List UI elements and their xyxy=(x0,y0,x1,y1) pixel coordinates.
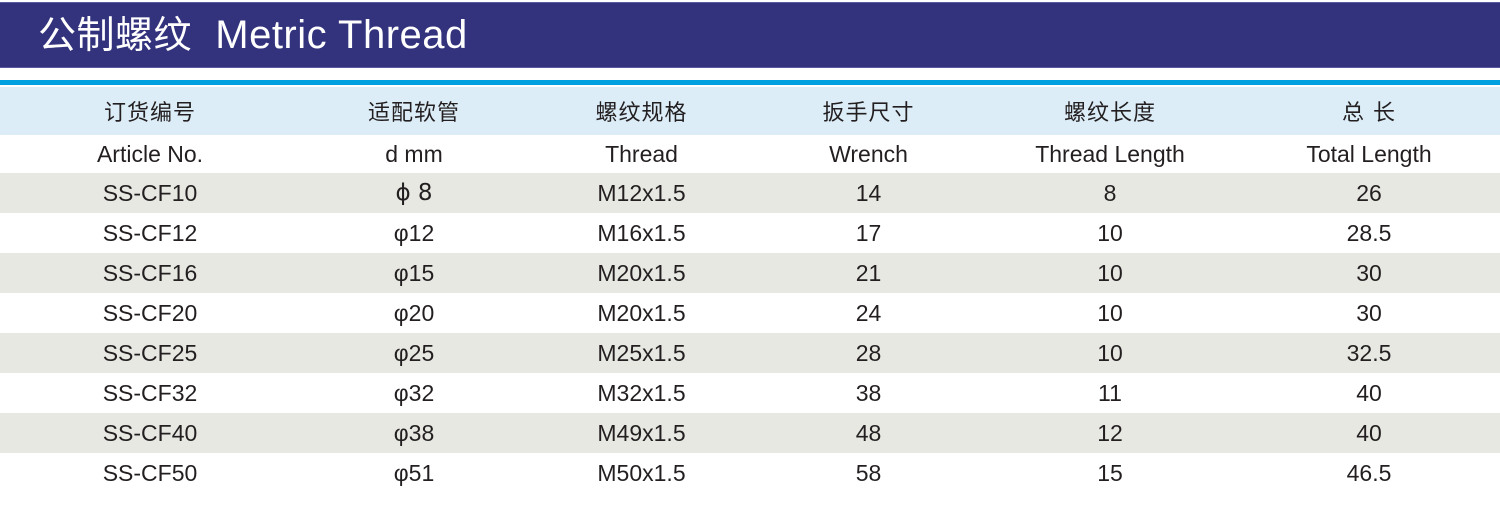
cell-article-no: SS-CF25 xyxy=(0,340,300,367)
cell-thread: M16x1.5 xyxy=(528,220,755,247)
column-header-thread-cn: 螺纹规格 xyxy=(528,95,755,127)
spec-table: 订货编号 适配软管 螺纹规格 扳手尺寸 螺纹长度 总 长 Article No.… xyxy=(0,87,1500,493)
cell-wrench: 58 xyxy=(755,460,982,487)
table-row: SS-CF20 φ20 M20x1.5 24 10 30 xyxy=(0,293,1500,333)
cell-total-length: 30 xyxy=(1238,260,1500,287)
table-row: SS-CF12 φ12 M16x1.5 17 10 28.5 xyxy=(0,213,1500,253)
cell-thread-length: 10 xyxy=(982,340,1238,367)
cell-wrench: 21 xyxy=(755,260,982,287)
cell-d-mm: ϕ 8 xyxy=(300,180,528,206)
cell-thread-length: 12 xyxy=(982,420,1238,447)
table-row: SS-CF10 ϕ 8 M12x1.5 14 8 26 xyxy=(0,173,1500,213)
cell-thread-length: 11 xyxy=(982,380,1238,407)
cell-article-no: SS-CF12 xyxy=(0,220,300,247)
column-header-d-mm-en: d mm xyxy=(300,141,528,168)
cell-d-mm: φ20 xyxy=(300,300,528,327)
cell-thread: M32x1.5 xyxy=(528,380,755,407)
page-title-chinese: 公制螺纹 xyxy=(38,13,192,57)
cell-total-length: 30 xyxy=(1238,300,1500,327)
cell-total-length: 32.5 xyxy=(1238,340,1500,367)
cell-wrench: 48 xyxy=(755,420,982,447)
page-title-english-text: Metric Thread xyxy=(215,13,468,57)
cell-thread: M50x1.5 xyxy=(528,460,755,487)
table-row: SS-CF25 φ25 M25x1.5 28 10 32.5 xyxy=(0,333,1500,373)
cell-article-no: SS-CF32 xyxy=(0,380,300,407)
table-header-row-chinese: 订货编号 适配软管 螺纹规格 扳手尺寸 螺纹长度 总 长 xyxy=(0,87,1500,135)
page-title: 公制螺纹 Metric Thread xyxy=(0,15,468,55)
cell-total-length: 26 xyxy=(1238,180,1500,207)
cell-d-mm: φ32 xyxy=(300,380,528,407)
cell-thread-length: 10 xyxy=(982,260,1238,287)
cell-d-mm: φ38 xyxy=(300,420,528,447)
column-header-wrench-en: Wrench xyxy=(755,141,982,168)
column-header-thread-length-en: Thread Length xyxy=(982,141,1238,168)
column-header-total-length-cn: 总 长 xyxy=(1238,95,1500,127)
title-bar: 公制螺纹 Metric Thread xyxy=(0,2,1500,68)
cell-thread-length: 10 xyxy=(982,220,1238,247)
table-row: SS-CF40 φ38 M49x1.5 48 12 40 xyxy=(0,413,1500,453)
cell-d-mm: φ51 xyxy=(300,460,528,487)
cell-article-no: SS-CF50 xyxy=(0,460,300,487)
cell-d-mm: φ12 xyxy=(300,220,528,247)
cell-article-no: SS-CF20 xyxy=(0,300,300,327)
column-header-wrench-cn: 扳手尺寸 xyxy=(755,95,982,127)
cell-article-no: SS-CF40 xyxy=(0,420,300,447)
cell-article-no: SS-CF10 xyxy=(0,180,300,207)
cell-thread: M49x1.5 xyxy=(528,420,755,447)
cell-wrench: 17 xyxy=(755,220,982,247)
cell-d-mm: φ15 xyxy=(300,260,528,287)
cell-wrench: 28 xyxy=(755,340,982,367)
cell-thread: M12x1.5 xyxy=(528,180,755,207)
page-title-english xyxy=(192,13,215,57)
cell-thread-length: 10 xyxy=(982,300,1238,327)
cell-d-mm: φ25 xyxy=(300,340,528,367)
table-row: SS-CF16 φ15 M20x1.5 21 10 30 xyxy=(0,253,1500,293)
accent-rule xyxy=(0,80,1500,85)
column-header-thread-length-cn: 螺纹长度 xyxy=(982,95,1238,127)
cell-thread: M25x1.5 xyxy=(528,340,755,367)
table-header-row-english: Article No. d mm Thread Wrench Thread Le… xyxy=(0,135,1500,173)
cell-total-length: 46.5 xyxy=(1238,460,1500,487)
column-header-article-no-en: Article No. xyxy=(0,141,300,168)
column-header-total-length-en: Total Length xyxy=(1238,141,1500,168)
table-row: SS-CF50 φ51 M50x1.5 58 15 46.5 xyxy=(0,453,1500,493)
column-header-d-mm-cn: 适配软管 xyxy=(300,95,528,127)
cell-article-no: SS-CF16 xyxy=(0,260,300,287)
metric-thread-spec-sheet: 公制螺纹 Metric Thread 订货编号 适配软管 螺纹规格 扳手尺寸 螺… xyxy=(0,0,1500,513)
cell-thread: M20x1.5 xyxy=(528,300,755,327)
cell-thread-length: 15 xyxy=(982,460,1238,487)
cell-total-length: 28.5 xyxy=(1238,220,1500,247)
table-row: SS-CF32 φ32 M32x1.5 38 11 40 xyxy=(0,373,1500,413)
column-header-thread-en: Thread xyxy=(528,141,755,168)
cell-total-length: 40 xyxy=(1238,380,1500,407)
cell-thread: M20x1.5 xyxy=(528,260,755,287)
column-header-article-no-cn: 订货编号 xyxy=(0,95,300,127)
cell-thread-length: 8 xyxy=(982,180,1238,207)
cell-wrench: 24 xyxy=(755,300,982,327)
cell-wrench: 38 xyxy=(755,380,982,407)
cell-wrench: 14 xyxy=(755,180,982,207)
cell-total-length: 40 xyxy=(1238,420,1500,447)
